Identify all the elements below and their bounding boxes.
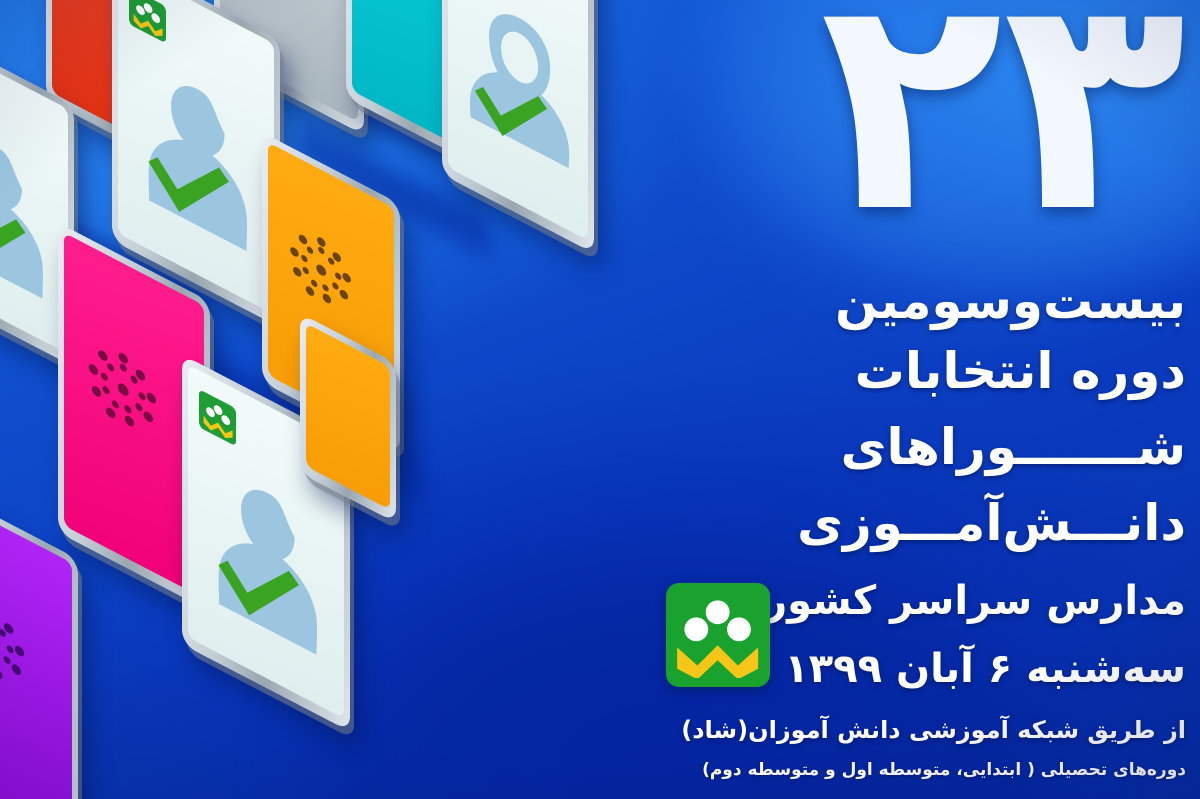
people-circle-icon: [84, 296, 162, 483]
election-poster: ۲۳ بیست‌وسومین دوره انتخابات شـــــــورا…: [0, 0, 1200, 799]
headline-line-3: شـــــــوراهای: [790, 418, 1186, 476]
platform-note: از طریق شبکه آموزشی دانش آموزان(شاد): [646, 716, 1186, 744]
card-white-female: [442, 0, 594, 254]
event-date: سه‌شنبه ۶ آبان ۱۳۹۹: [790, 646, 1186, 692]
grade-levels-note: دوره‌های تحصیلی ( ابتدایی، متوسطه اول و …: [626, 760, 1186, 780]
headline-line-1: بیست‌وسومین: [790, 272, 1186, 330]
headline-line-5: مدارس سراسر کشور: [790, 578, 1186, 624]
poster-text-column: ۲۳ بیست‌وسومین دوره انتخابات شـــــــورا…: [770, 0, 1200, 799]
people-circle-icon: [0, 552, 31, 734]
headline-line-4: دانـــش‌آمـــوزی: [790, 494, 1186, 552]
shad-app-logo: [666, 583, 770, 687]
headline-line-2: دوره انتخابات: [790, 342, 1186, 400]
edition-number: ۲۳: [820, 0, 1186, 254]
